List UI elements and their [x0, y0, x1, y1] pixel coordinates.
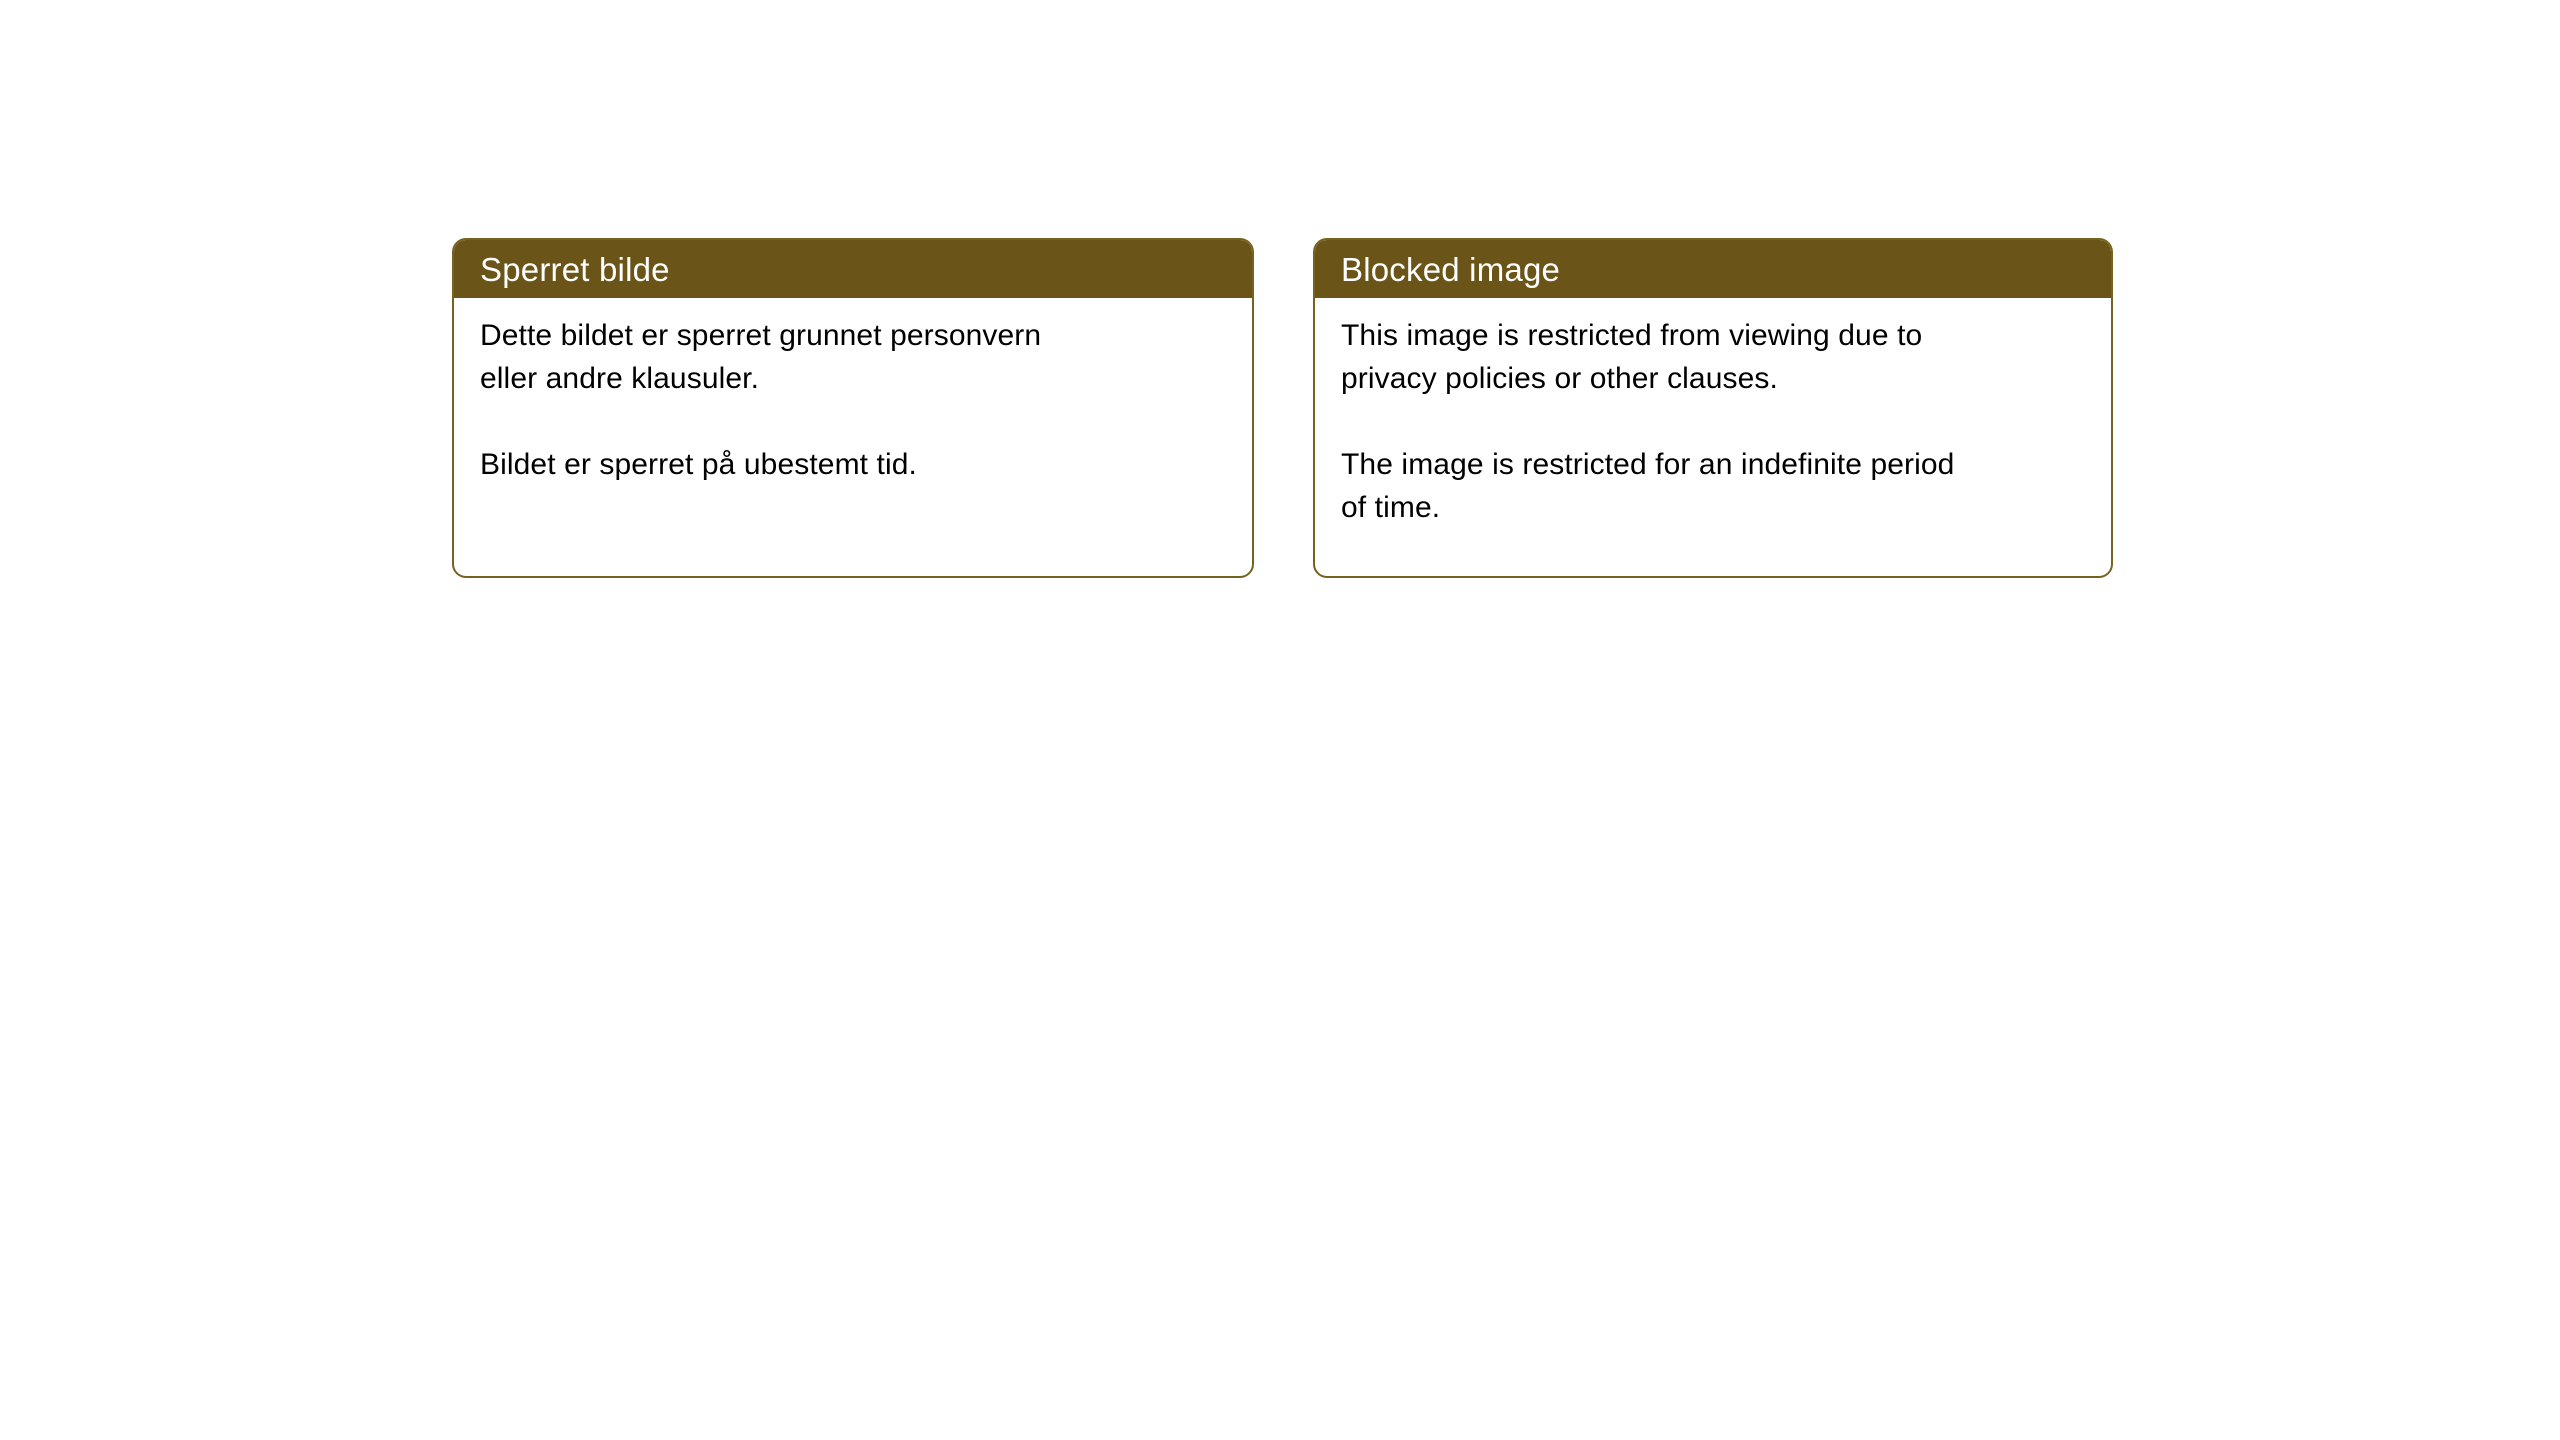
paragraph-spacer-en [1341, 400, 2087, 443]
blocked-image-card-en: Blocked image This image is restricted f… [1313, 238, 2113, 578]
card-paragraph-en-2: The image is restricted for an indefinit… [1341, 443, 2087, 529]
card-line-no-3: Bildet er sperret på ubestemt tid. [480, 448, 917, 481]
paragraph-spacer-no [480, 400, 1228, 443]
card-line-en-4: of time. [1341, 491, 1440, 524]
card-title-en: Blocked image [1341, 253, 1560, 286]
card-line-en-1: This image is restricted from viewing du… [1341, 319, 1922, 352]
card-paragraph-no-2: Bildet er sperret på ubestemt tid. [480, 443, 1228, 486]
card-body-no: Dette bildet er sperret grunnet personve… [454, 298, 1252, 506]
page-canvas: Sperret bilde Dette bildet er sperret gr… [0, 0, 2560, 1440]
card-line-no-1: Dette bildet er sperret grunnet personve… [480, 319, 1041, 352]
card-paragraph-no-1: Dette bildet er sperret grunnet personve… [480, 314, 1228, 400]
card-line-en-2: privacy policies or other clauses. [1341, 362, 1778, 395]
card-body-en: This image is restricted from viewing du… [1315, 298, 2111, 549]
card-line-no-2: eller andre klausuler. [480, 362, 759, 395]
blocked-image-card-no: Sperret bilde Dette bildet er sperret gr… [452, 238, 1254, 578]
card-header-en: Blocked image [1315, 240, 2111, 298]
card-header-no: Sperret bilde [454, 240, 1252, 298]
card-title-no: Sperret bilde [480, 253, 670, 286]
card-line-en-3: The image is restricted for an indefinit… [1341, 448, 1954, 481]
card-paragraph-en-1: This image is restricted from viewing du… [1341, 314, 2087, 400]
